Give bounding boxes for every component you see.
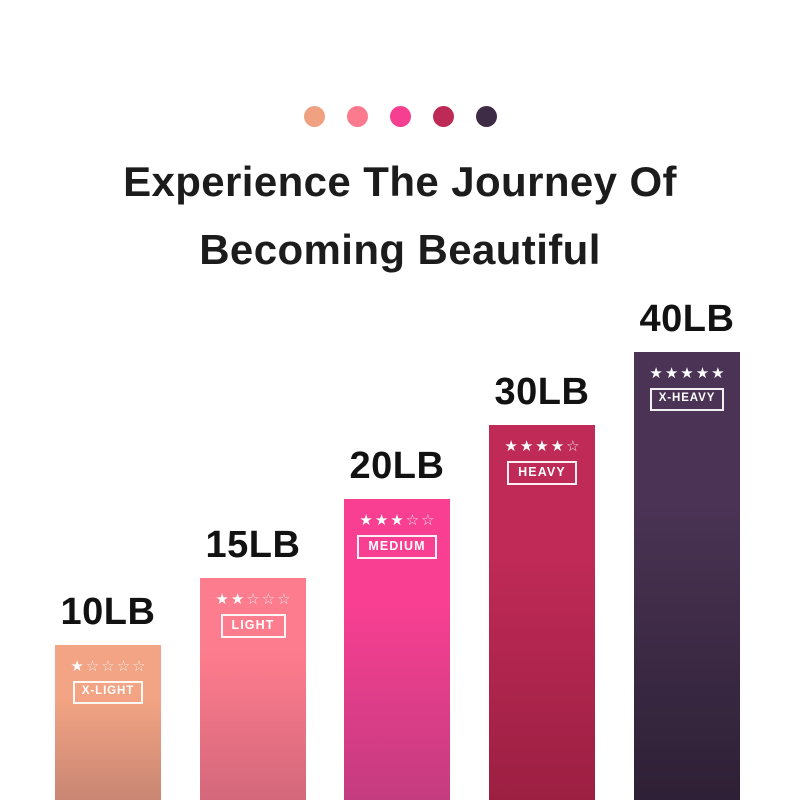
star-filled-icon: ★ <box>711 366 724 381</box>
bar-column[interactable]: ★★☆☆☆LIGHT <box>200 578 306 800</box>
star-empty-icon: ☆ <box>86 659 99 674</box>
resistance-level-badge: X-HEAVY <box>650 388 725 411</box>
bar-group-40lb[interactable]: 40LB★★★★★X-HEAVY <box>634 352 740 800</box>
star-empty-icon: ☆ <box>421 513 434 528</box>
bar-weight-label: 10LB <box>61 591 156 634</box>
star-filled-icon: ★ <box>535 439 548 454</box>
bar-content: ★☆☆☆☆X-LIGHT <box>55 659 161 704</box>
bar-content: ★★★★★X-HEAVY <box>634 366 740 411</box>
bar-group-10lb[interactable]: 10LB★☆☆☆☆X-LIGHT <box>55 645 161 800</box>
star-filled-icon: ★ <box>70 659 83 674</box>
bar-weight-label: 15LB <box>206 524 301 567</box>
star-filled-icon: ★ <box>696 366 709 381</box>
star-filled-icon: ★ <box>551 439 564 454</box>
poster-canvas: Experience The Journey Of Becoming Beaut… <box>0 0 800 800</box>
bar-content: ★★☆☆☆LIGHT <box>200 592 306 638</box>
star-empty-icon: ☆ <box>246 592 259 607</box>
resistance-level-badge: X-LIGHT <box>73 681 143 704</box>
star-empty-icon: ☆ <box>277 592 290 607</box>
resistance-level-badge: MEDIUM <box>357 535 436 559</box>
star-filled-icon: ★ <box>504 439 517 454</box>
bar-content: ★★★★☆HEAVY <box>489 439 595 485</box>
star-filled-icon: ★ <box>680 366 693 381</box>
star-empty-icon: ☆ <box>566 439 579 454</box>
star-empty-icon: ☆ <box>132 659 145 674</box>
bar-group-30lb[interactable]: 30LB★★★★☆HEAVY <box>489 425 595 800</box>
bar-weight-label: 40LB <box>640 298 735 341</box>
star-empty-icon: ☆ <box>101 659 114 674</box>
resistance-band-bar-chart: 10LB★☆☆☆☆X-LIGHT15LB★★☆☆☆LIGHT20LB★★★☆☆M… <box>0 0 800 800</box>
star-empty-icon: ☆ <box>117 659 130 674</box>
star-filled-icon: ★ <box>231 592 244 607</box>
star-filled-icon: ★ <box>665 366 678 381</box>
bar-column[interactable]: ★★★☆☆MEDIUM <box>344 499 450 800</box>
bar-weight-label: 20LB <box>350 445 445 488</box>
star-filled-icon: ★ <box>215 592 228 607</box>
star-empty-icon: ☆ <box>406 513 419 528</box>
star-filled-icon: ★ <box>375 513 388 528</box>
bar-column[interactable]: ★★★★☆HEAVY <box>489 425 595 800</box>
star-filled-icon: ★ <box>359 513 372 528</box>
bar-group-15lb[interactable]: 15LB★★☆☆☆LIGHT <box>200 578 306 800</box>
bar-column[interactable]: ★☆☆☆☆X-LIGHT <box>55 645 161 800</box>
star-rating: ★☆☆☆☆ <box>70 659 145 674</box>
star-filled-icon: ★ <box>649 366 662 381</box>
star-filled-icon: ★ <box>520 439 533 454</box>
bar-content: ★★★☆☆MEDIUM <box>344 513 450 559</box>
star-filled-icon: ★ <box>390 513 403 528</box>
bar-group-20lb[interactable]: 20LB★★★☆☆MEDIUM <box>344 499 450 800</box>
star-rating: ★★☆☆☆ <box>215 592 290 607</box>
star-rating: ★★★★☆ <box>504 439 579 454</box>
star-rating: ★★★☆☆ <box>359 513 434 528</box>
resistance-level-badge: HEAVY <box>507 461 577 485</box>
bar-weight-label: 30LB <box>495 371 590 414</box>
bar-column[interactable]: ★★★★★X-HEAVY <box>634 352 740 800</box>
star-rating: ★★★★★ <box>649 366 724 381</box>
star-empty-icon: ☆ <box>262 592 275 607</box>
resistance-level-badge: LIGHT <box>221 614 286 638</box>
